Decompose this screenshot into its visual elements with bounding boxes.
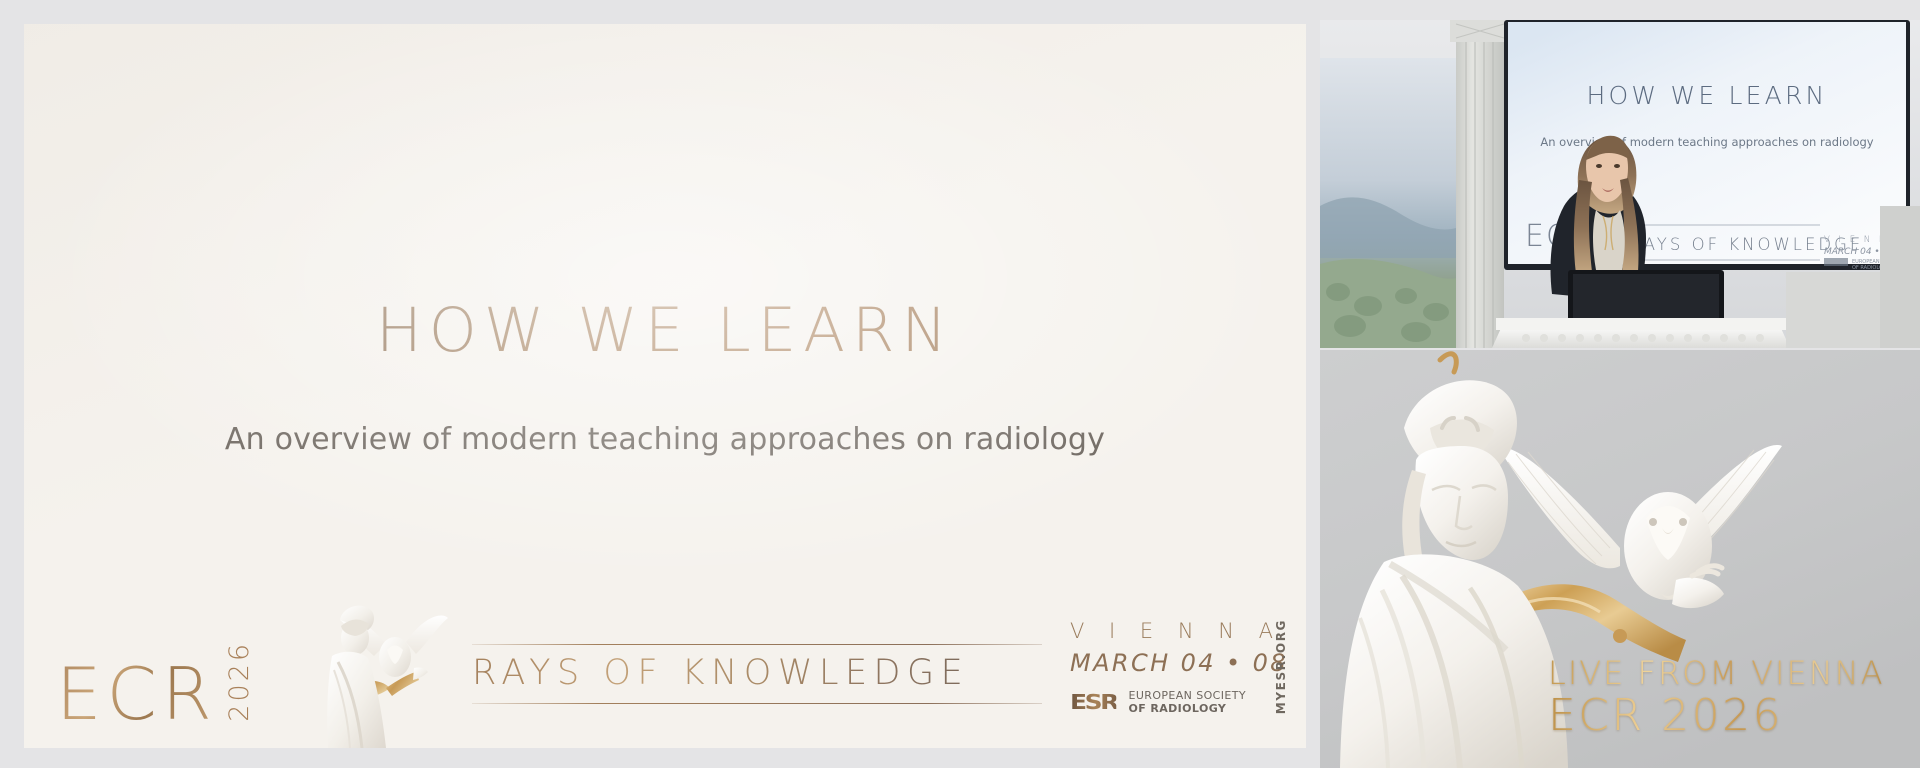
venue-dates: MARCH 04 • 08 <box>1070 649 1270 677</box>
ecr-logo: ECR 2026 <box>56 641 255 726</box>
venue-city: V I E N N A <box>1070 619 1270 643</box>
website-url[interactable]: MYESR.ORG <box>1274 619 1288 714</box>
esr-society-name: EUROPEAN SOCIETY OF RADIOLOGY <box>1128 689 1246 717</box>
svg-text:HOW WE LEARN: HOW WE LEARN <box>1587 81 1828 110</box>
tagline-rule-bottom <box>472 703 1042 704</box>
presentation-slide[interactable]: HOW WE LEARN An overview of modern teach… <box>24 24 1306 748</box>
event-tagline: RAYS OF KNOWLEDGE <box>472 644 1042 704</box>
brand-line-live-from-vienna: LIVE FROM VIENNA <box>1548 657 1884 691</box>
slide-footer: ECR 2026 <box>24 588 1306 748</box>
ecr-logo-letters: ECR <box>56 664 217 726</box>
esr-logomark: ESR <box>1070 690 1117 714</box>
venue-info: V I E N N A MARCH 04 • 08 ESR EUROPEAN S… <box>1070 619 1270 717</box>
ecr-logo-year: 2026 <box>224 641 255 722</box>
esr-logo: ESR EUROPEAN SOCIETY OF RADIOLOGY <box>1070 689 1270 717</box>
brand-tagline: LIVE FROM VIENNA ECR 2026 <box>1548 657 1884 740</box>
slide-subtitle: An overview of modern teaching approache… <box>24 422 1306 457</box>
page-title: HOW WE LEARN <box>24 300 1306 361</box>
esr-name-line2: OF RADIOLOGY <box>1128 702 1226 715</box>
tagline-text: RAYS OF KNOWLEDGE <box>472 645 1042 703</box>
speaker-video-feed[interactable]: HOW WE LEARN An overview of modern teach… <box>1320 20 1920 348</box>
broadcast-layout: HOW WE LEARN An overview of modern teach… <box>0 0 1920 768</box>
athena-owl-statue-icon <box>324 600 494 748</box>
brand-line-ecr-2026: ECR 2026 <box>1548 692 1884 740</box>
event-brand-panel[interactable]: LIVE FROM VIENNA ECR 2026 <box>1320 350 1920 768</box>
esr-name-line1: EUROPEAN SOCIETY <box>1128 689 1246 702</box>
